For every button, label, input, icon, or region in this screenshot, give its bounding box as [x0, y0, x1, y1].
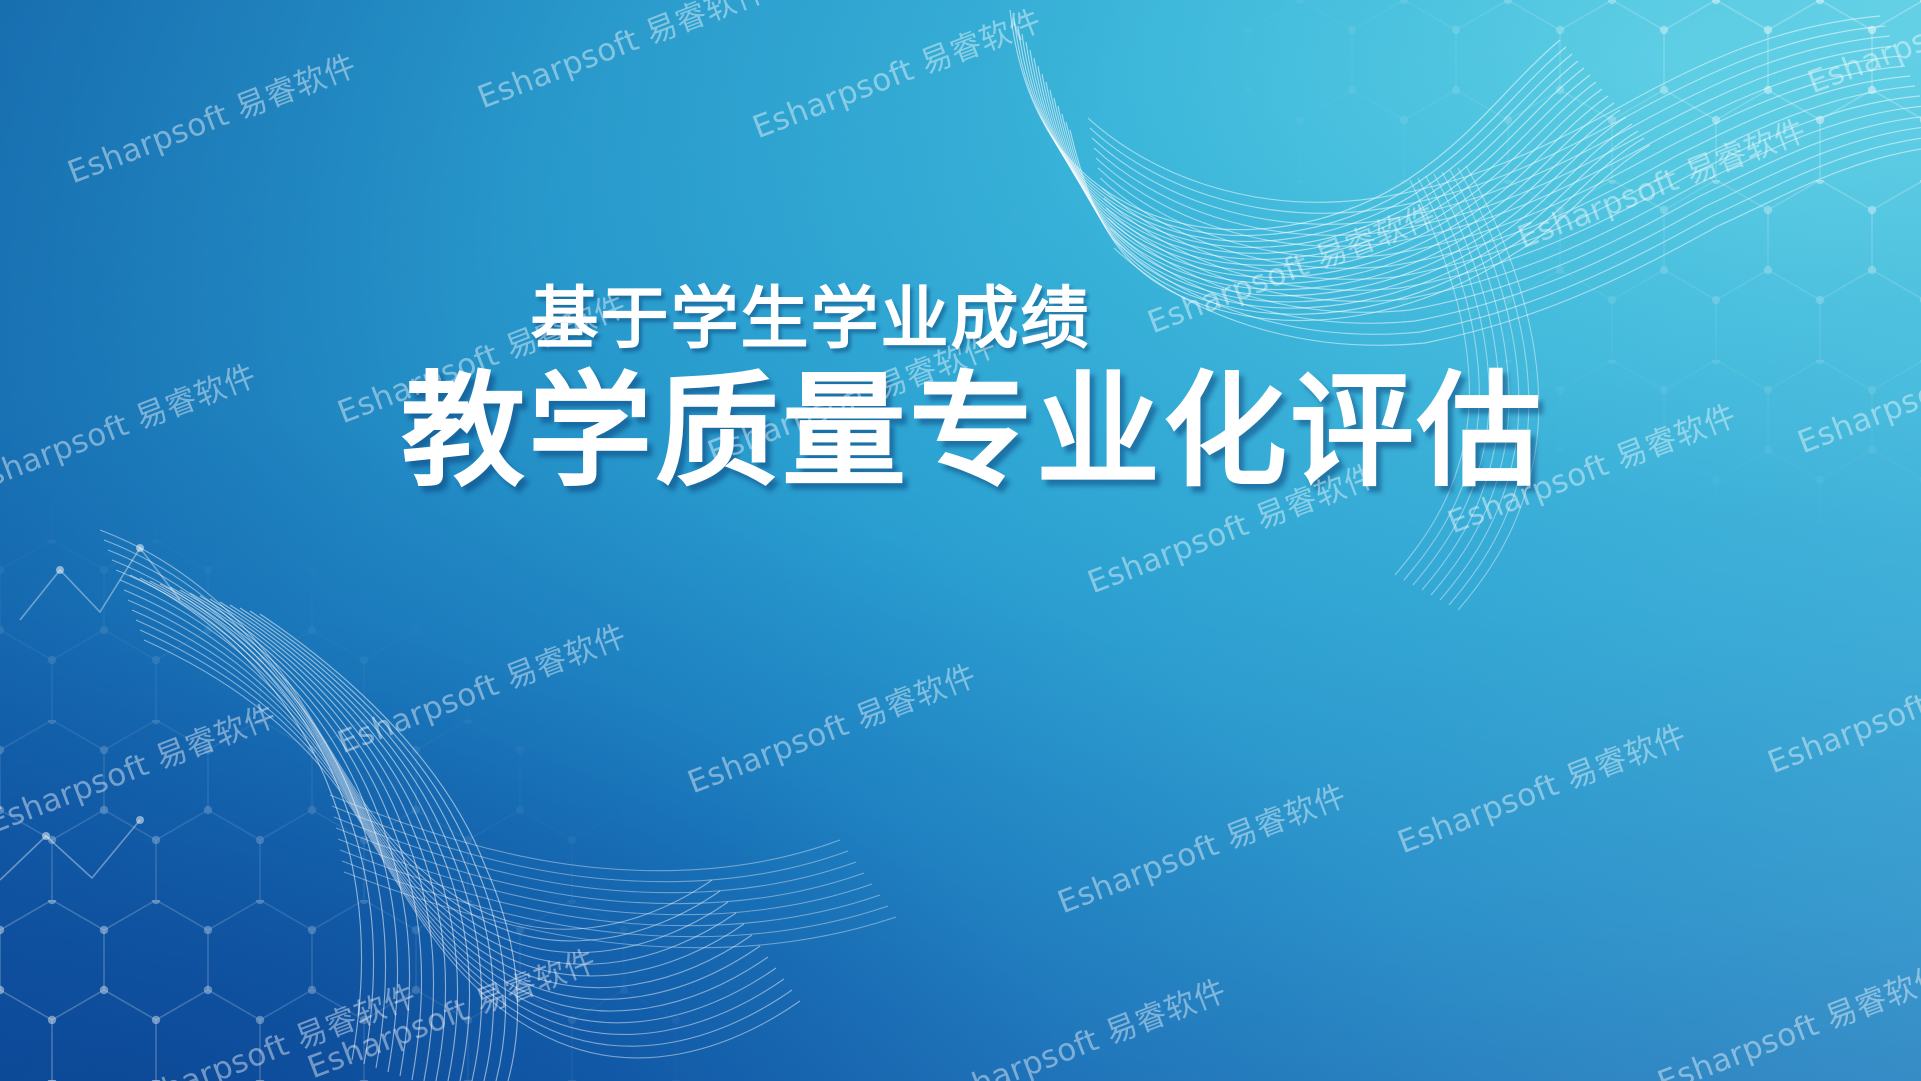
presentation-cover-slide: 基于学生学业成绩 教学质量专业化评估 Esharpsoft 易睿软件Esharp… [0, 0, 1921, 1081]
slide-main-title: 教学质量专业化评估 [401, 367, 1544, 498]
background-gradient-diagonal [0, 0, 1921, 1081]
slide-subtitle: 基于学生学业成绩 [530, 285, 1090, 353]
title-block: 基于学生学业成绩 教学质量专业化评估 [0, 285, 1921, 498]
